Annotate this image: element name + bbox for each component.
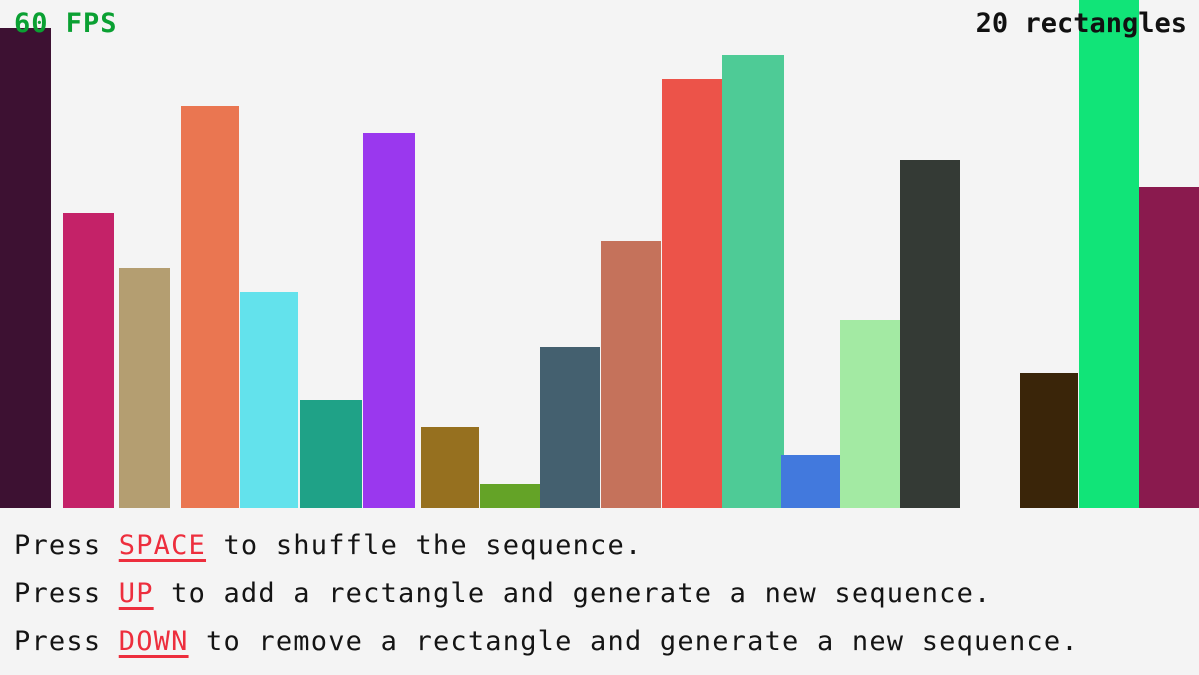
bar-17-dark-brown xyxy=(1020,373,1078,508)
bar-14-blue xyxy=(781,455,841,508)
key-space[interactable]: SPACE xyxy=(119,530,206,561)
fps-counter: 60 FPS xyxy=(14,10,118,37)
bar-16-charcoal xyxy=(900,160,960,508)
bar-11-terracotta xyxy=(601,241,661,508)
instruction-prefix: Press xyxy=(14,578,119,609)
instruction-line-2: Press UP to add a rectangle and generate… xyxy=(14,580,992,607)
app-canvas: 60 FPS 20 rectangles Press SPACE to shuf… xyxy=(0,0,1199,675)
key-up[interactable]: UP xyxy=(119,578,154,609)
rectangle-count-label: 20 rectangles xyxy=(976,10,1187,37)
bar-7-purple xyxy=(363,133,415,508)
instruction-suffix: to shuffle the sequence. xyxy=(206,530,642,561)
instruction-line-3: Press DOWN to remove a rectangle and gen… xyxy=(14,628,1079,655)
bar-6-teal xyxy=(300,400,362,508)
bar-2-magenta xyxy=(63,213,114,508)
rectangle-chart xyxy=(0,0,1199,508)
bar-1-dark-plum xyxy=(0,28,51,508)
instructions-panel: Press SPACE to shuffle the sequence.Pres… xyxy=(0,512,1199,675)
bar-10-slate-blue xyxy=(540,347,600,508)
instruction-prefix: Press xyxy=(14,626,119,657)
bar-13-sea-green xyxy=(722,55,784,508)
instruction-suffix: to remove a rectangle and generate a new… xyxy=(189,626,1079,657)
instruction-suffix: to add a rectangle and generate a new se… xyxy=(154,578,992,609)
instruction-line-1: Press SPACE to shuffle the sequence. xyxy=(14,532,642,559)
bar-8-brown-ochre xyxy=(421,427,479,508)
bar-5-cyan xyxy=(240,292,298,508)
bar-3-tan xyxy=(119,268,170,508)
bar-19-dark-maroon xyxy=(1139,187,1199,508)
bar-9-olive-green xyxy=(480,484,540,508)
bar-15-light-green xyxy=(840,320,900,508)
bar-18-bright-green xyxy=(1079,0,1139,508)
key-down[interactable]: DOWN xyxy=(119,626,189,657)
bar-4-orange xyxy=(181,106,239,508)
bar-12-red xyxy=(662,79,722,508)
instruction-prefix: Press xyxy=(14,530,119,561)
